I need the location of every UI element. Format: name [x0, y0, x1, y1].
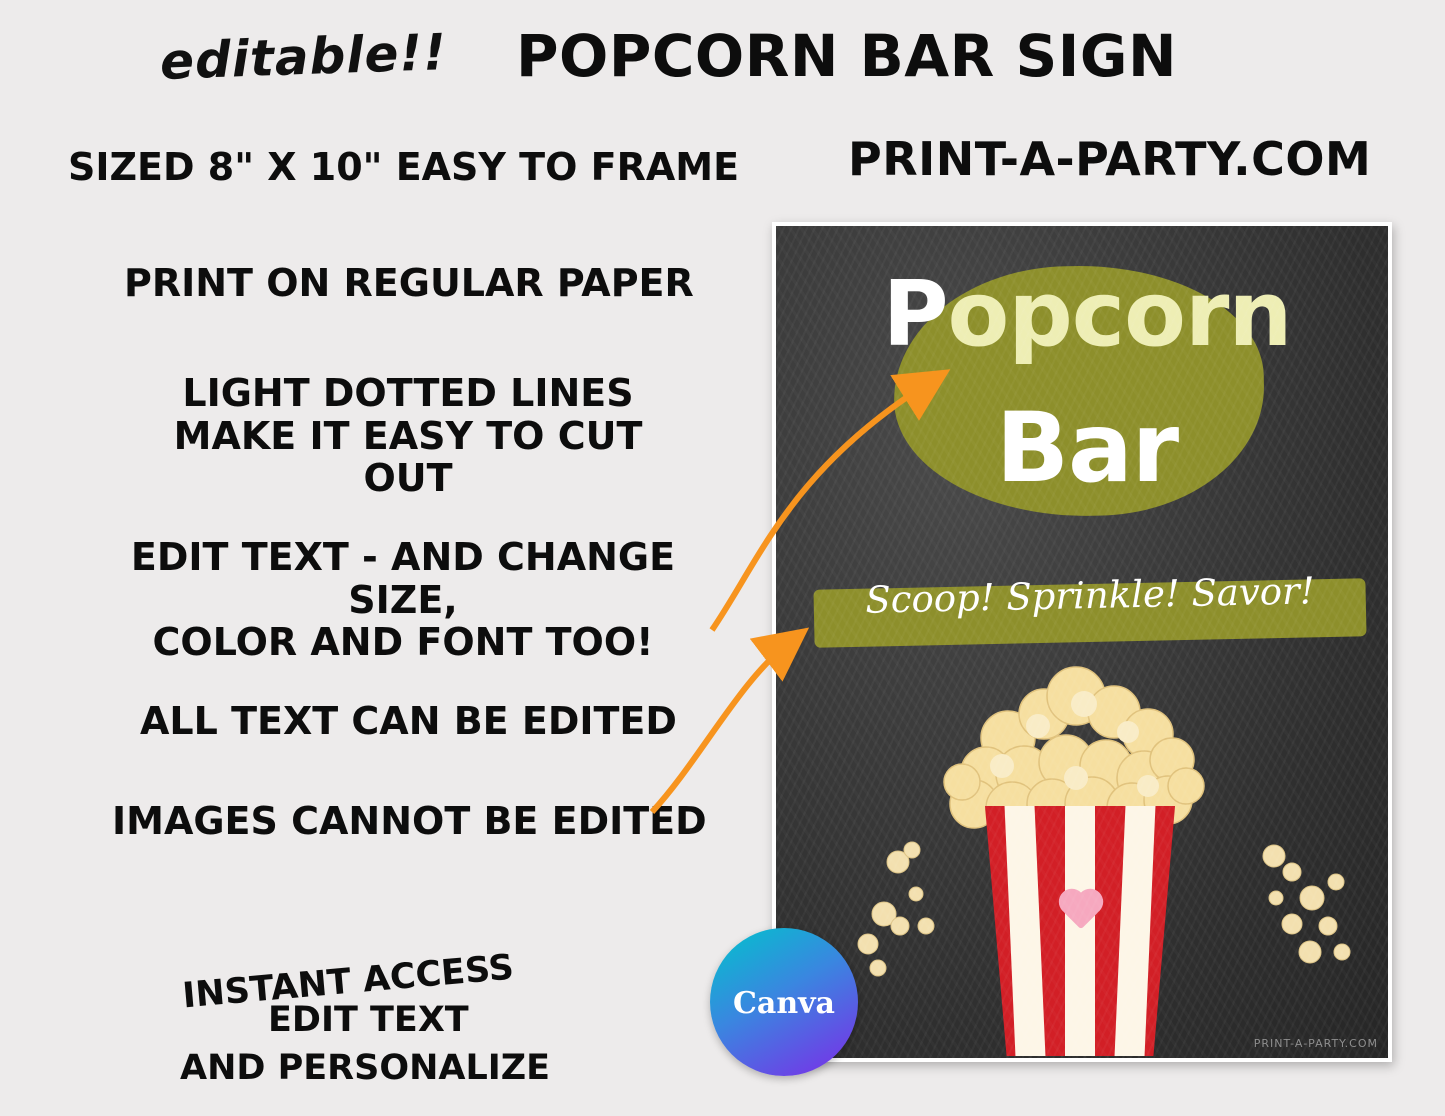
page-title: POPCORN BAR SIGN	[516, 22, 1177, 90]
feature-item-5: IMAGES CANNOT BE EDITED	[112, 800, 707, 843]
box-stripe	[1065, 806, 1095, 1056]
feature-item-3: EDIT TEXT - AND CHANGE SIZE, COLOR AND F…	[78, 536, 728, 664]
popcorn-box-shape	[972, 806, 1188, 1056]
edit-text-label: EDIT TEXT	[268, 1000, 469, 1040]
canva-badge[interactable]: Canva	[710, 928, 858, 1076]
feature-item-4: ALL TEXT CAN BE EDITED	[140, 700, 677, 743]
feature-item-2: LIGHT DOTTED LINES MAKE IT EASY TO CUT O…	[128, 372, 688, 500]
personalize-label: AND PERSONALIZE	[180, 1048, 550, 1088]
box-stripe	[1115, 806, 1156, 1056]
feature-item-0: SIZED 8" X 10" EASY TO FRAME	[68, 146, 739, 189]
poster-preview: Popcorn Bar Scoop! Sprinkle! Savor!	[776, 226, 1388, 1058]
editable-tag: editable!!	[159, 23, 448, 91]
box-stripe	[1005, 806, 1046, 1056]
poster-credit: PRINT-A-PARTY.COM	[1254, 1037, 1378, 1050]
promo-page: editable!! POPCORN BAR SIGN PRINT-A-PART…	[0, 0, 1445, 1116]
feature-item-1: PRINT ON REGULAR PAPER	[124, 262, 694, 305]
canva-label: Canva	[710, 986, 858, 1021]
site-url: PRINT-A-PARTY.COM	[848, 132, 1371, 186]
